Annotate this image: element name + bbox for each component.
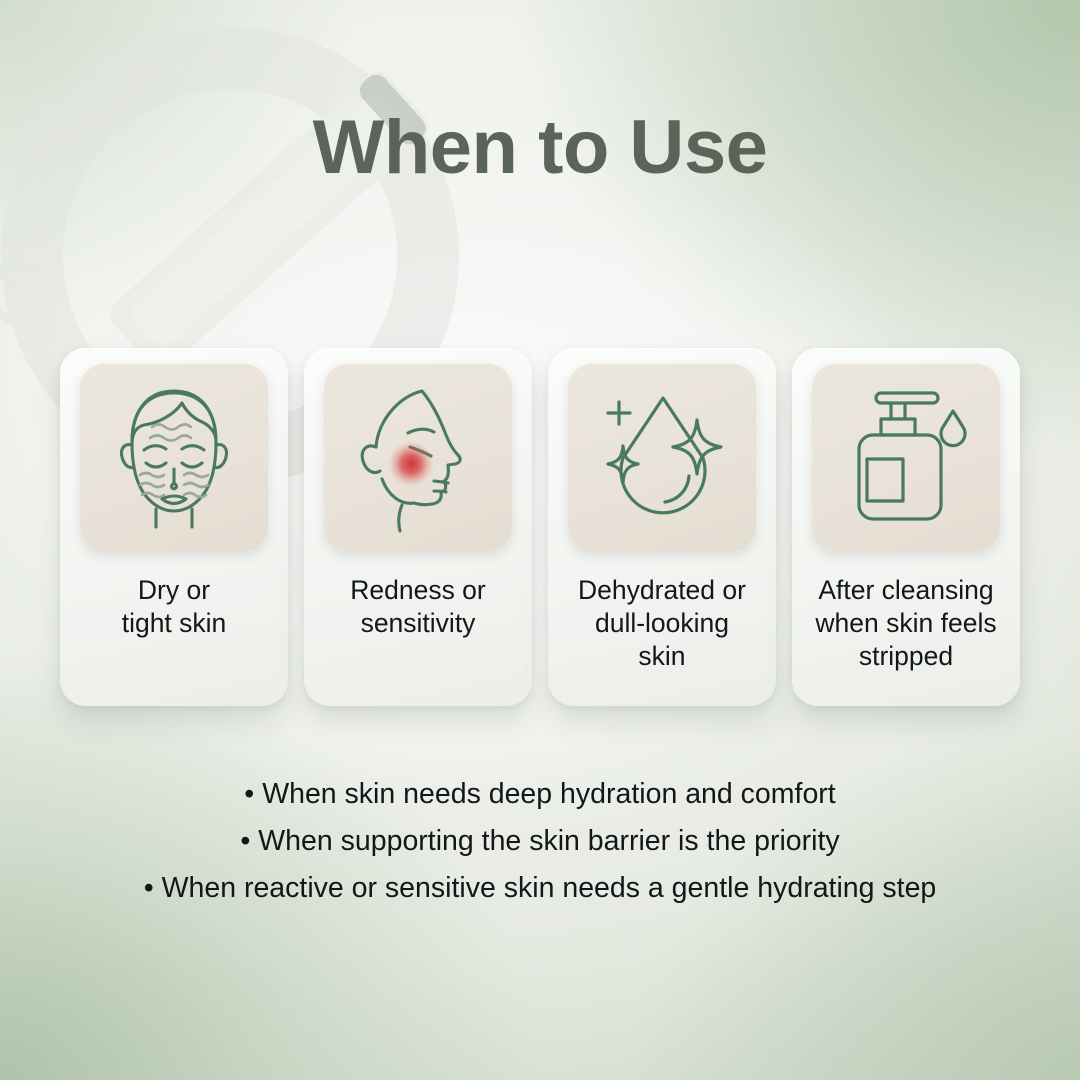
pump-bottle-droplet-icon xyxy=(841,381,971,533)
page-title: When to Use xyxy=(0,104,1080,191)
bullet-item: • When skin needs deep hydration and com… xyxy=(0,771,1080,818)
card-label: After cleansing when skin feels stripped xyxy=(792,574,1020,673)
icon-tile xyxy=(324,363,512,551)
card-redness-sensitivity[interactable]: Redness or sensitivity xyxy=(304,348,532,706)
face-profile-redness-icon xyxy=(346,381,490,533)
bullet-item: • When reactive or sensitive skin needs … xyxy=(0,865,1080,912)
bullet-item: • When supporting the skin barrier is th… xyxy=(0,818,1080,865)
icon-tile xyxy=(80,363,268,551)
card-row: Dry or tight skin xyxy=(60,348,1020,706)
card-label: Redness or sensitivity xyxy=(304,574,532,640)
card-dry-tight-skin[interactable]: Dry or tight skin xyxy=(60,348,288,706)
icon-tile xyxy=(568,363,756,551)
water-droplet-sparkle-icon xyxy=(587,384,737,530)
card-after-cleansing[interactable]: After cleansing when skin feels stripped xyxy=(792,348,1020,706)
redness-spot xyxy=(388,441,434,487)
card-label: Dehydrated or dull-looking skin xyxy=(548,574,776,673)
bullet-list: • When skin needs deep hydration and com… xyxy=(0,771,1080,912)
card-dehydrated-dull-skin[interactable]: Dehydrated or dull-looking skin xyxy=(548,348,776,706)
card-label: Dry or tight skin xyxy=(60,574,288,640)
wrinkled-face-icon xyxy=(100,381,248,533)
icon-tile xyxy=(812,363,1000,551)
